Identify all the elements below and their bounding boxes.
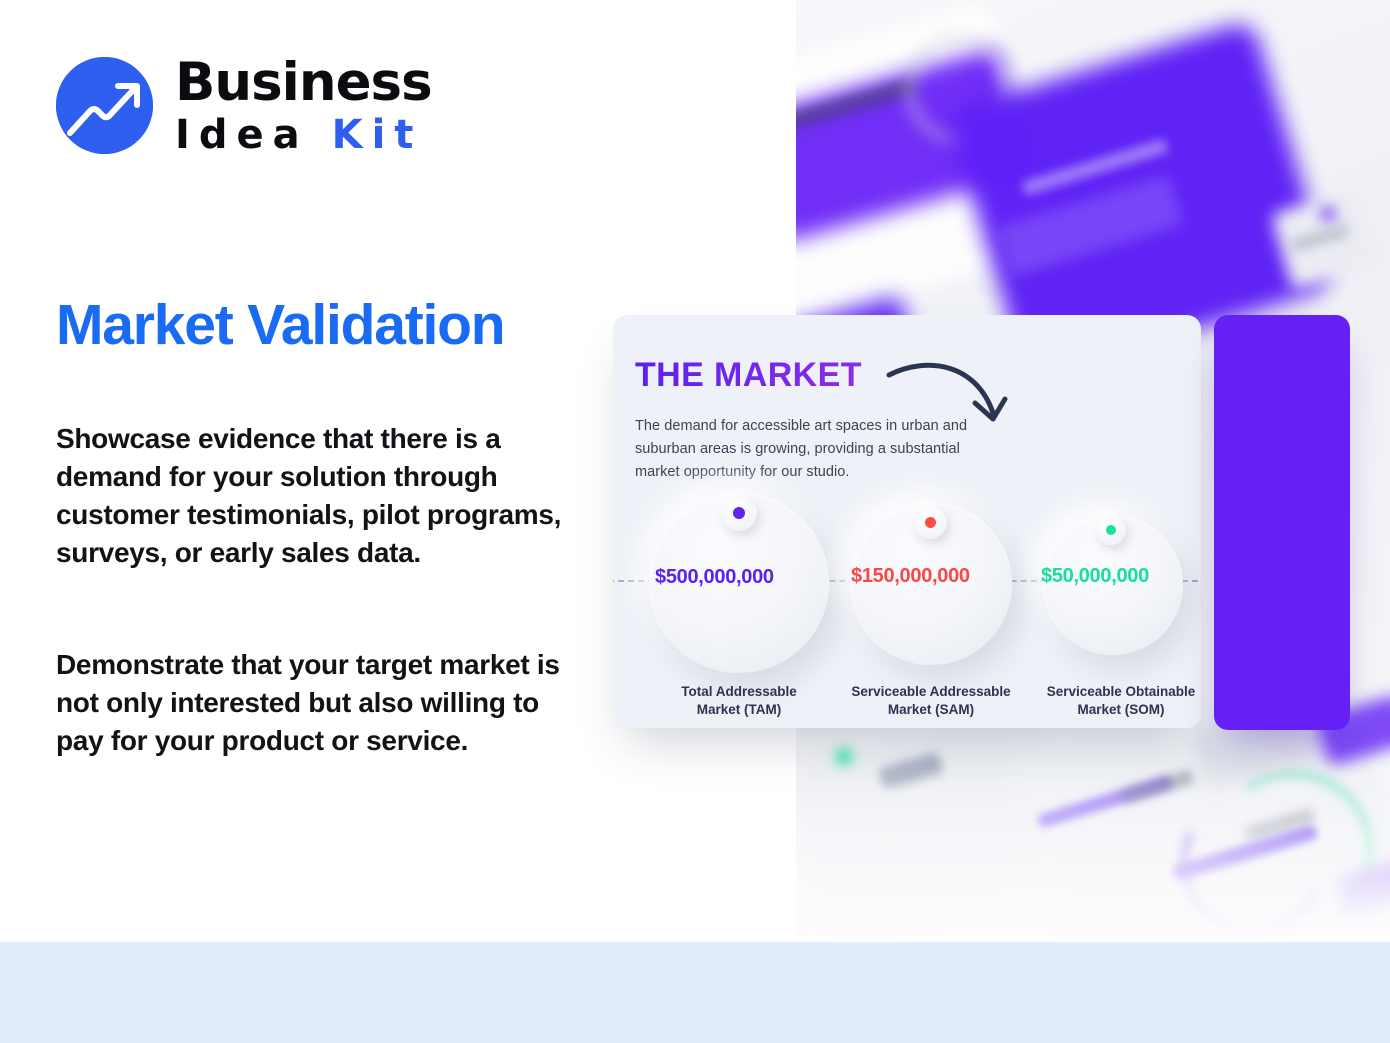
status-dot-som bbox=[1106, 525, 1116, 535]
growth-chart-arrow-icon bbox=[56, 57, 153, 154]
purple-accent-panel bbox=[1214, 315, 1350, 730]
market-value-som: $50,000,000 bbox=[1041, 565, 1149, 588]
bottom-color-band bbox=[0, 942, 1390, 1043]
bg-fade-overlay bbox=[792, 760, 1390, 942]
brand-wordmark: Business Idea Kit bbox=[175, 56, 432, 155]
body-paragraph-2: Demonstrate that your target market is n… bbox=[56, 646, 566, 760]
market-value-sam: $150,000,000 bbox=[851, 565, 970, 588]
status-dot-sam bbox=[925, 517, 936, 528]
market-label-tam-line1: Total Addressable bbox=[629, 683, 849, 701]
market-card[interactable]: THE MARKET The demand for accessible art… bbox=[613, 315, 1201, 728]
brand-name-top: Business bbox=[175, 56, 432, 109]
brand-logo[interactable]: Business Idea Kit bbox=[56, 56, 432, 155]
market-label-tam: Total Addressable Market (TAM) bbox=[629, 683, 849, 719]
page-title: Market Validation bbox=[56, 296, 504, 356]
market-label-som-line1: Serviceable Obtainable bbox=[1011, 683, 1201, 701]
market-label-som: Serviceable Obtainable Market (SOM) bbox=[1011, 683, 1201, 719]
curved-arrow-icon bbox=[885, 357, 1015, 442]
brand-name-bottom: Idea Kit bbox=[175, 115, 432, 155]
status-dot-tam bbox=[733, 507, 745, 519]
slide-canvas: Business Idea Kit Market Validation Show… bbox=[0, 0, 1390, 1043]
bg-small-card-dot bbox=[1318, 204, 1338, 224]
bubble-knob-som bbox=[1096, 515, 1126, 545]
market-label-sam: Serviceable Addressable Market (SAM) bbox=[821, 683, 1041, 719]
market-size-chart: $500,000,000 Total Addressable Market (T… bbox=[613, 493, 1201, 723]
market-label-tam-line2: Market (TAM) bbox=[629, 701, 849, 719]
brand-name-idea: Idea bbox=[175, 112, 309, 158]
body-paragraph-1: Showcase evidence that there is a demand… bbox=[56, 420, 566, 572]
market-label-sam-line2: Market (SAM) bbox=[821, 701, 1041, 719]
bubble-knob-tam bbox=[721, 495, 757, 531]
brand-name-kit: Kit bbox=[332, 112, 423, 158]
bubble-knob-sam bbox=[913, 505, 947, 539]
market-label-som-line2: Market (SOM) bbox=[1011, 701, 1201, 719]
market-value-tam: $500,000,000 bbox=[655, 566, 774, 589]
market-label-sam-line1: Serviceable Addressable bbox=[821, 683, 1041, 701]
market-card-title: THE MARKET bbox=[635, 356, 862, 395]
